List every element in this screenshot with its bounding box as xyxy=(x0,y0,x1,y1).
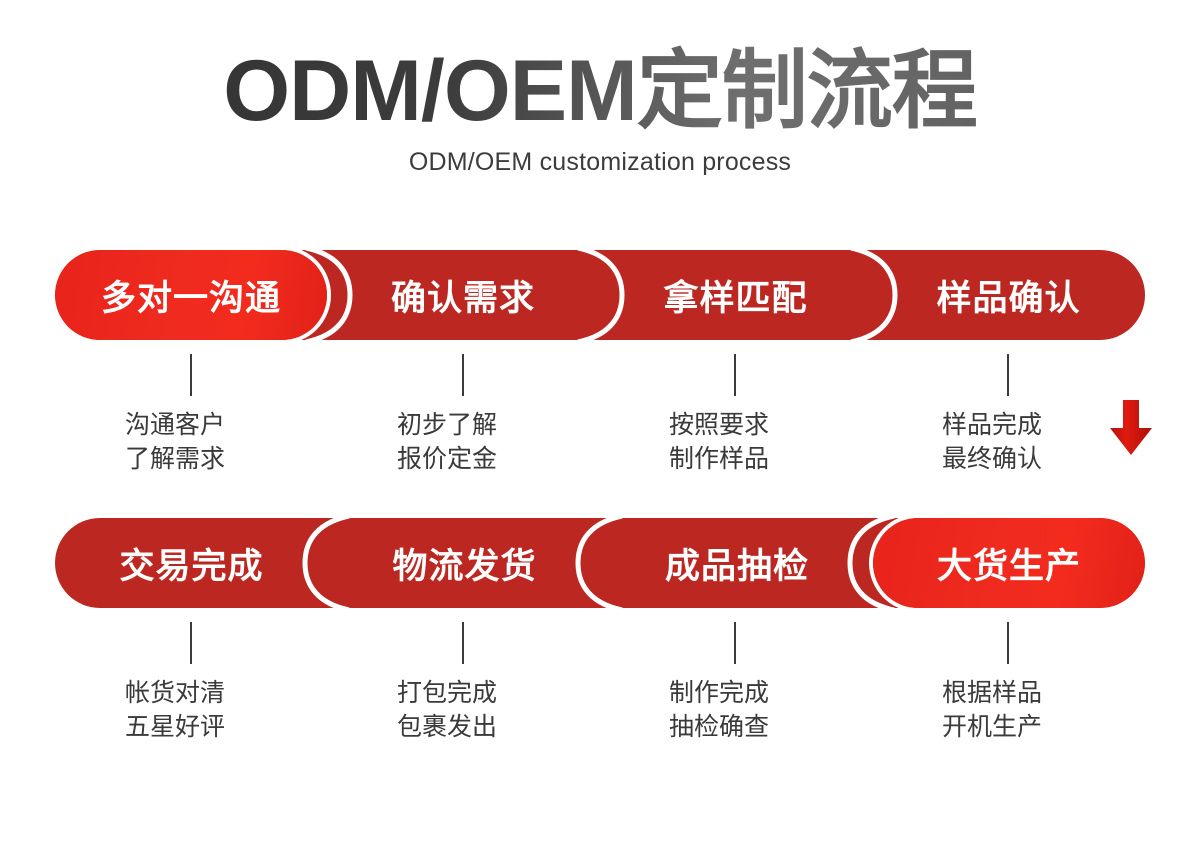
caption-step-5-line1: 根据样品 xyxy=(942,679,1042,707)
caption-step-4-line1: 样品完成 xyxy=(942,411,1042,439)
caption-step-4: 样品完成 最终确认 xyxy=(942,408,1042,476)
caption-step-8-line1: 帐货对清 xyxy=(125,679,225,707)
connector-line-step-6 xyxy=(734,622,736,664)
flow-step-4[interactable]: 样品确认 xyxy=(872,250,1145,340)
flow-step-3[interactable]: 拿样匹配 xyxy=(599,250,872,340)
flow-step-6-label: 成品抽检 xyxy=(665,538,809,589)
caption-step-3-line1: 按照要求 xyxy=(669,411,769,439)
flow-step-5-label: 大货生产 xyxy=(937,538,1081,589)
caption-step-4-line2: 最终确认 xyxy=(942,442,1042,476)
connector-line-step-4 xyxy=(1007,354,1009,396)
caption-step-7-line1: 打包完成 xyxy=(397,679,497,707)
caption-step-5-line2: 开机生产 xyxy=(942,710,1042,744)
connector-line-step-3 xyxy=(734,354,736,396)
caption-step-6: 制作完成 抽检确查 xyxy=(669,676,769,744)
caption-step-1-line1: 沟通客户 xyxy=(125,411,225,439)
caption-step-2-line2: 报价定金 xyxy=(397,442,497,476)
caption-step-7: 打包完成 包裹发出 xyxy=(397,676,497,744)
caption-step-8: 帐货对清 五星好评 xyxy=(125,676,225,744)
flow-step-3-label: 拿样匹配 xyxy=(663,270,807,321)
page-title: ODM/OEM定制流程 xyxy=(0,0,1200,134)
flow-step-6[interactable]: 成品抽检 xyxy=(601,518,873,608)
caption-step-5: 根据样品 开机生产 xyxy=(942,676,1042,744)
caption-step-1-line2: 了解需求 xyxy=(125,442,225,476)
caption-step-2-line1: 初步了解 xyxy=(397,411,497,439)
caption-step-7-line2: 包裹发出 xyxy=(397,710,497,744)
page-header: ODM/OEM定制流程 ODM/OEM customization proces… xyxy=(0,0,1200,177)
caption-step-6-line1: 制作完成 xyxy=(669,679,769,707)
caption-step-2: 初步了解 报价定金 xyxy=(397,408,497,476)
flow-row-1: 多对一沟通 确认需求 拿样匹配 样品确认 xyxy=(55,250,1145,340)
caption-step-6-line2: 抽检确查 xyxy=(669,710,769,744)
flow-step-1-label: 多对一沟通 xyxy=(101,270,281,321)
connector-line-step-8 xyxy=(190,622,192,664)
connector-line-step-7 xyxy=(462,622,464,664)
flow-step-2-label: 确认需求 xyxy=(391,270,535,321)
flow-row-2: 交易完成 物流发货 成品抽检 大货生产 xyxy=(55,518,1145,608)
connector-line-step-5 xyxy=(1007,622,1009,664)
flow-step-4-label: 样品确认 xyxy=(936,270,1080,321)
connector-line-step-2 xyxy=(462,354,464,396)
flow-step-2[interactable]: 确认需求 xyxy=(327,250,599,340)
page-subtitle: ODM/OEM customization process xyxy=(0,134,1200,177)
flow-step-7[interactable]: 物流发货 xyxy=(328,518,601,608)
caption-step-3: 按照要求 制作样品 xyxy=(669,408,769,476)
flow-step-8[interactable]: 交易完成 xyxy=(55,518,328,608)
caption-step-8-line2: 五星好评 xyxy=(125,710,225,744)
down-arrow-icon xyxy=(1108,398,1154,458)
caption-step-3-line2: 制作样品 xyxy=(669,442,769,476)
connector-line-step-1 xyxy=(190,354,192,396)
flow-step-7-label: 物流发货 xyxy=(392,538,536,589)
flow-step-8-label: 交易完成 xyxy=(119,538,263,589)
caption-step-1: 沟通客户 了解需求 xyxy=(125,408,225,476)
